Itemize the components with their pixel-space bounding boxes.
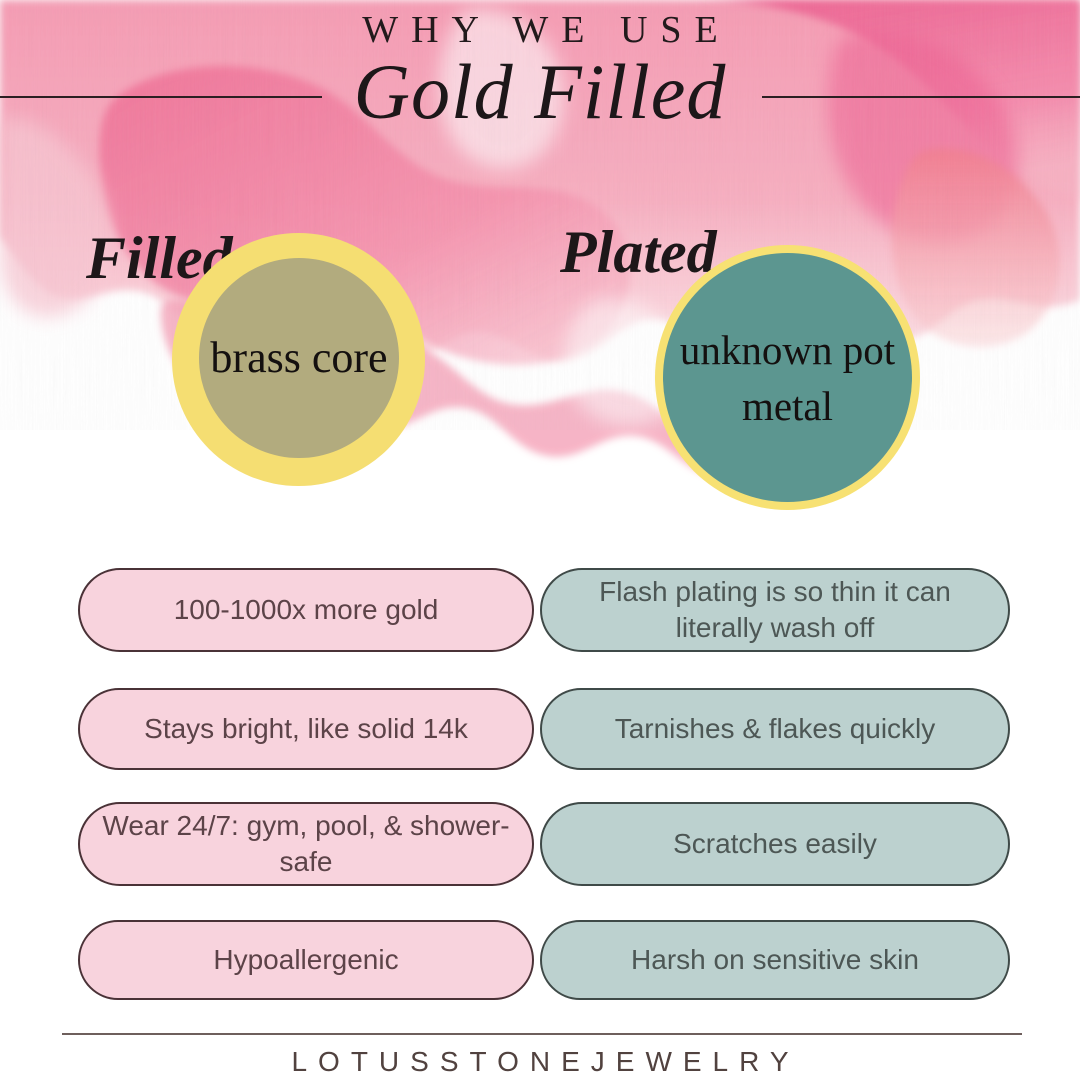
footer-rule bbox=[62, 1033, 1022, 1035]
infographic-canvas: WHY WE USE Gold Filled Filled brass core… bbox=[0, 0, 1080, 1080]
brand-wordmark: LOTUSSTONEJEWELRY bbox=[0, 1044, 1080, 1080]
pill-filled-2: Stays bright, like solid 14k bbox=[78, 688, 534, 770]
pill-plated-3: Scratches easily bbox=[540, 802, 1010, 886]
pill-filled-1: 100-1000x more gold bbox=[78, 568, 534, 652]
pill-filled-4: Hypoallergenic bbox=[78, 920, 534, 1000]
comparison-grid: 100-1000x more gold Flash plating is so … bbox=[0, 0, 1080, 1080]
pill-plated-1: Flash plating is so thin it can literall… bbox=[540, 568, 1010, 652]
pill-plated-4: Harsh on sensitive skin bbox=[540, 920, 1010, 1000]
pill-filled-3: Wear 24/7: gym, pool, & shower-safe bbox=[78, 802, 534, 886]
pill-plated-2: Tarnishes & flakes quickly bbox=[540, 688, 1010, 770]
